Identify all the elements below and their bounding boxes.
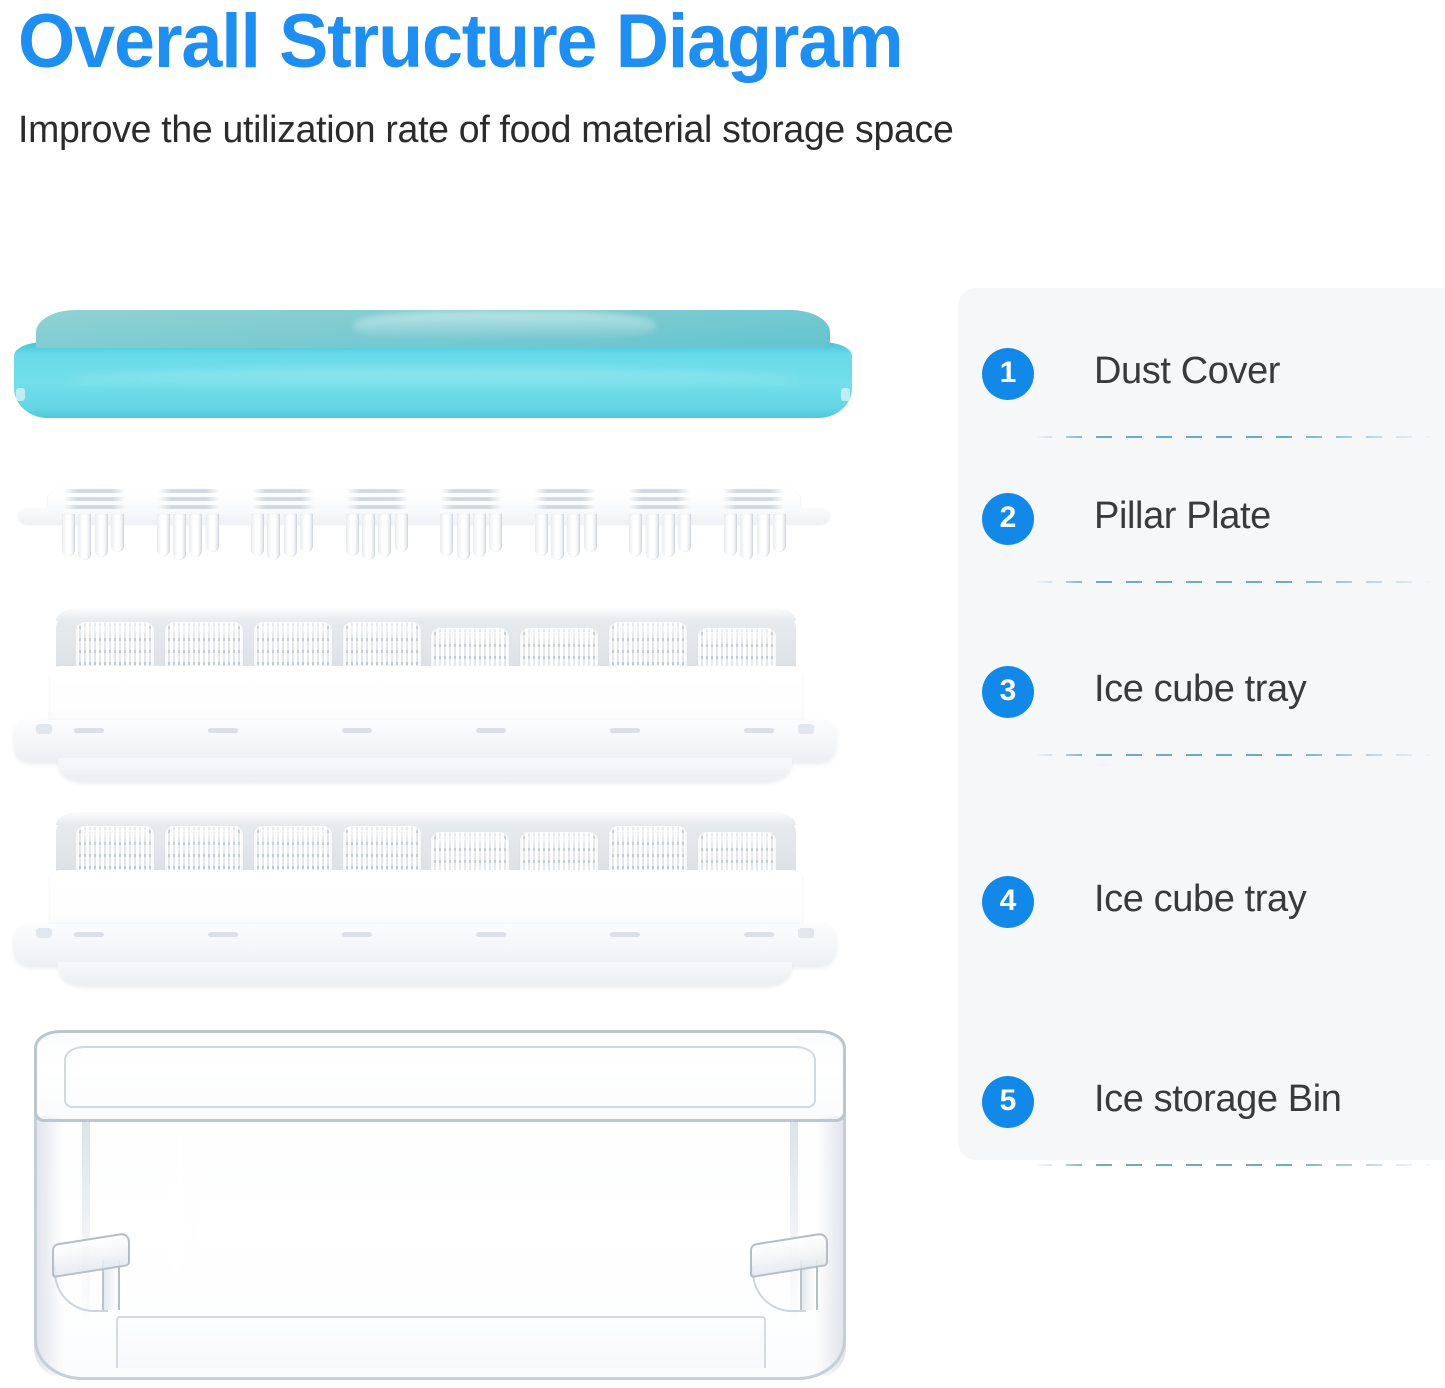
- legend-label-1: Dust Cover: [1094, 346, 1424, 397]
- legend-label-3: Ice cube tray: [1094, 664, 1424, 715]
- dust-cover-top-face: [36, 310, 830, 348]
- pillar-plate-hole-grid: [64, 489, 784, 509]
- tray-back-rim: [56, 608, 796, 621]
- part-ice-cube-tray-upper: [14, 608, 836, 784]
- legend-label-2: Pillar Plate: [1094, 491, 1424, 542]
- legend-panel: 1 Dust Cover 2 Pillar Plate 3 Ice cube t…: [958, 288, 1445, 1160]
- bin-rim-gloss: [78, 1036, 798, 1046]
- pillar-group: [346, 514, 408, 560]
- tray-ear-left: [36, 724, 52, 734]
- legend-item-ice-storage-bin[interactable]: 5 Ice storage Bin: [958, 1016, 1445, 1188]
- dust-cover-front-face: [14, 342, 852, 418]
- legend-badge-4: 4: [982, 876, 1034, 928]
- pillar-group: [724, 514, 786, 560]
- bin-handle-right: [750, 1238, 828, 1310]
- pillar-plate-hole-group: [534, 489, 596, 509]
- tray-base-flange: [14, 720, 836, 762]
- legend-item-pillar-plate[interactable]: 2 Pillar Plate: [958, 433, 1445, 605]
- pillar-plate-hole-group: [346, 489, 408, 509]
- pillar-plate-hole-group: [64, 489, 126, 509]
- pillar-plate-hole-group: [252, 489, 314, 509]
- tray-ear-left: [36, 928, 52, 938]
- pillar-group: [251, 514, 313, 560]
- part-pillar-plate: [18, 480, 830, 560]
- part-ice-cube-tray-lower: [14, 812, 836, 988]
- pillar-group: [535, 514, 597, 560]
- pillar-plate-hole-group: [628, 489, 690, 509]
- pillar-plate-hole-group: [440, 489, 502, 509]
- legend-badge-2: 2: [982, 493, 1034, 545]
- tray-foot: [58, 758, 792, 782]
- part-ice-storage-bin: [20, 1030, 860, 1380]
- bin-rim-inner: [64, 1046, 816, 1108]
- dust-cover-sheen: [354, 311, 656, 341]
- pillar-plate-pillars: [62, 514, 786, 560]
- dust-cover-highlight: [64, 368, 801, 390]
- legend-item-ice-cube-tray-4[interactable]: 4 Ice cube tray: [958, 816, 1445, 988]
- part-dust-cover: [14, 310, 852, 418]
- legend-divider-3: [1036, 754, 1436, 756]
- dust-cover-tab-right: [841, 388, 850, 401]
- legend-label-5: Ice storage Bin: [1094, 1074, 1424, 1125]
- pillar-plate-hole-group: [158, 489, 220, 509]
- tray-base-notches: [74, 932, 774, 937]
- tray-ear-right: [798, 928, 814, 938]
- tray-base-notches: [74, 728, 774, 733]
- tray-ear-right: [798, 724, 814, 734]
- dust-cover-tab-left: [16, 388, 25, 401]
- pillar-plate-hole-group: [722, 489, 784, 509]
- pillar-group: [157, 514, 219, 560]
- bin-handle-left: [52, 1238, 130, 1310]
- legend-label-4: Ice cube tray: [1094, 874, 1424, 925]
- tray-back-rim: [56, 812, 796, 825]
- legend-badge-5: 5: [982, 1076, 1034, 1128]
- pillar-group: [629, 514, 691, 560]
- legend-badge-1: 1: [982, 348, 1034, 400]
- pillar-group: [440, 514, 502, 560]
- exploded-parts-illustration: [0, 0, 900, 1388]
- tray-base-flange: [14, 924, 836, 966]
- legend-divider-2: [1036, 581, 1436, 583]
- pillar-group: [62, 514, 124, 560]
- legend-badge-3: 3: [982, 666, 1034, 718]
- legend-item-ice-cube-tray-3[interactable]: 3 Ice cube tray: [958, 606, 1445, 778]
- bin-floor: [116, 1316, 766, 1368]
- tray-foot: [58, 962, 792, 986]
- legend-divider-5: [1036, 1164, 1436, 1166]
- bin-highlight: [170, 1126, 198, 1276]
